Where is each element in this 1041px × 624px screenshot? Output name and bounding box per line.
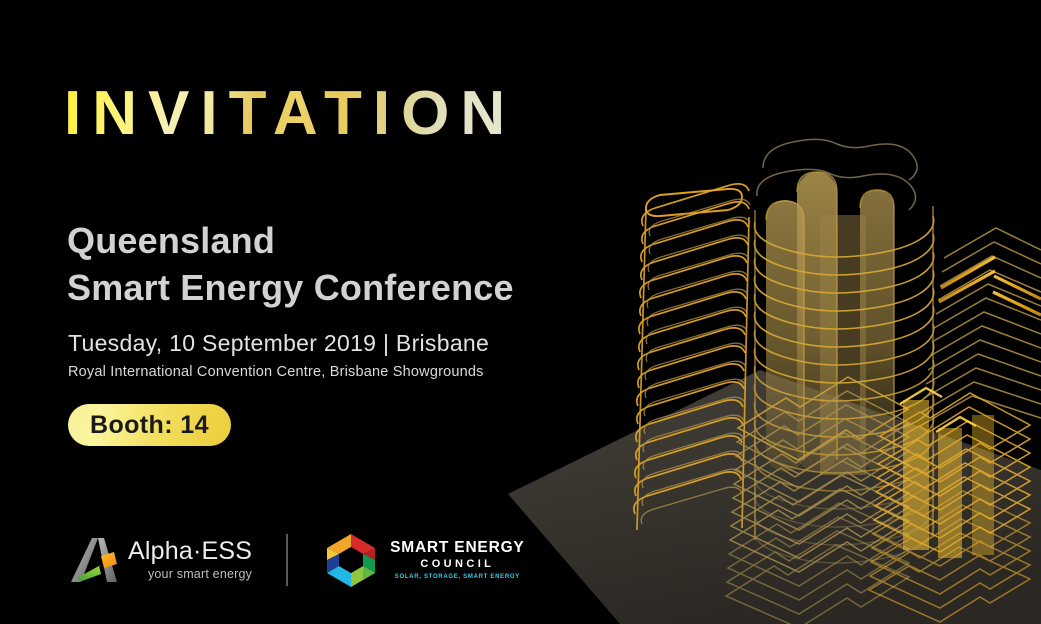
event-name-line2: Smart Energy Conference (67, 265, 514, 312)
event-name: Queensland Smart Energy Conference (67, 218, 514, 312)
logo-strip: Alpha·ESS your smart energy (68, 524, 525, 596)
alphaess-tagline: your smart energy (128, 568, 252, 581)
event-venue: Royal International Convention Centre, B… (68, 364, 484, 380)
smart-energy-council-hexagon-icon (324, 532, 378, 588)
alphaess-logo-icon (68, 534, 120, 586)
event-name-line1: Queensland (67, 220, 275, 261)
booth-badge-label: Booth: 14 (90, 411, 209, 440)
alphaess-name: Alpha·ESS (128, 539, 252, 564)
sec-name: SMART ENERGY (390, 540, 524, 556)
smart-energy-council-logo: SMART ENERGY COUNCIL SOLAR, STORAGE, SMA… (324, 531, 524, 589)
booth-badge: Booth: 14 (68, 404, 231, 446)
invitation-poster: INVITATION Queensland Smart Energy Confe… (0, 0, 1041, 624)
logo-divider (286, 534, 288, 586)
alphaess-wordmark: Alpha·ESS your smart energy (128, 539, 252, 581)
sec-tagline: SOLAR, STORAGE, SMART ENERGY (390, 574, 524, 580)
smart-energy-council-wordmark: SMART ENERGY COUNCIL SOLAR, STORAGE, SMA… (390, 540, 524, 580)
sec-subtitle: COUNCIL (390, 559, 524, 570)
alphaess-logo: Alpha·ESS your smart energy (68, 530, 252, 590)
page-title: INVITATION (64, 83, 516, 145)
event-date: Tuesday, 10 September 2019 | Brisbane (68, 330, 489, 357)
